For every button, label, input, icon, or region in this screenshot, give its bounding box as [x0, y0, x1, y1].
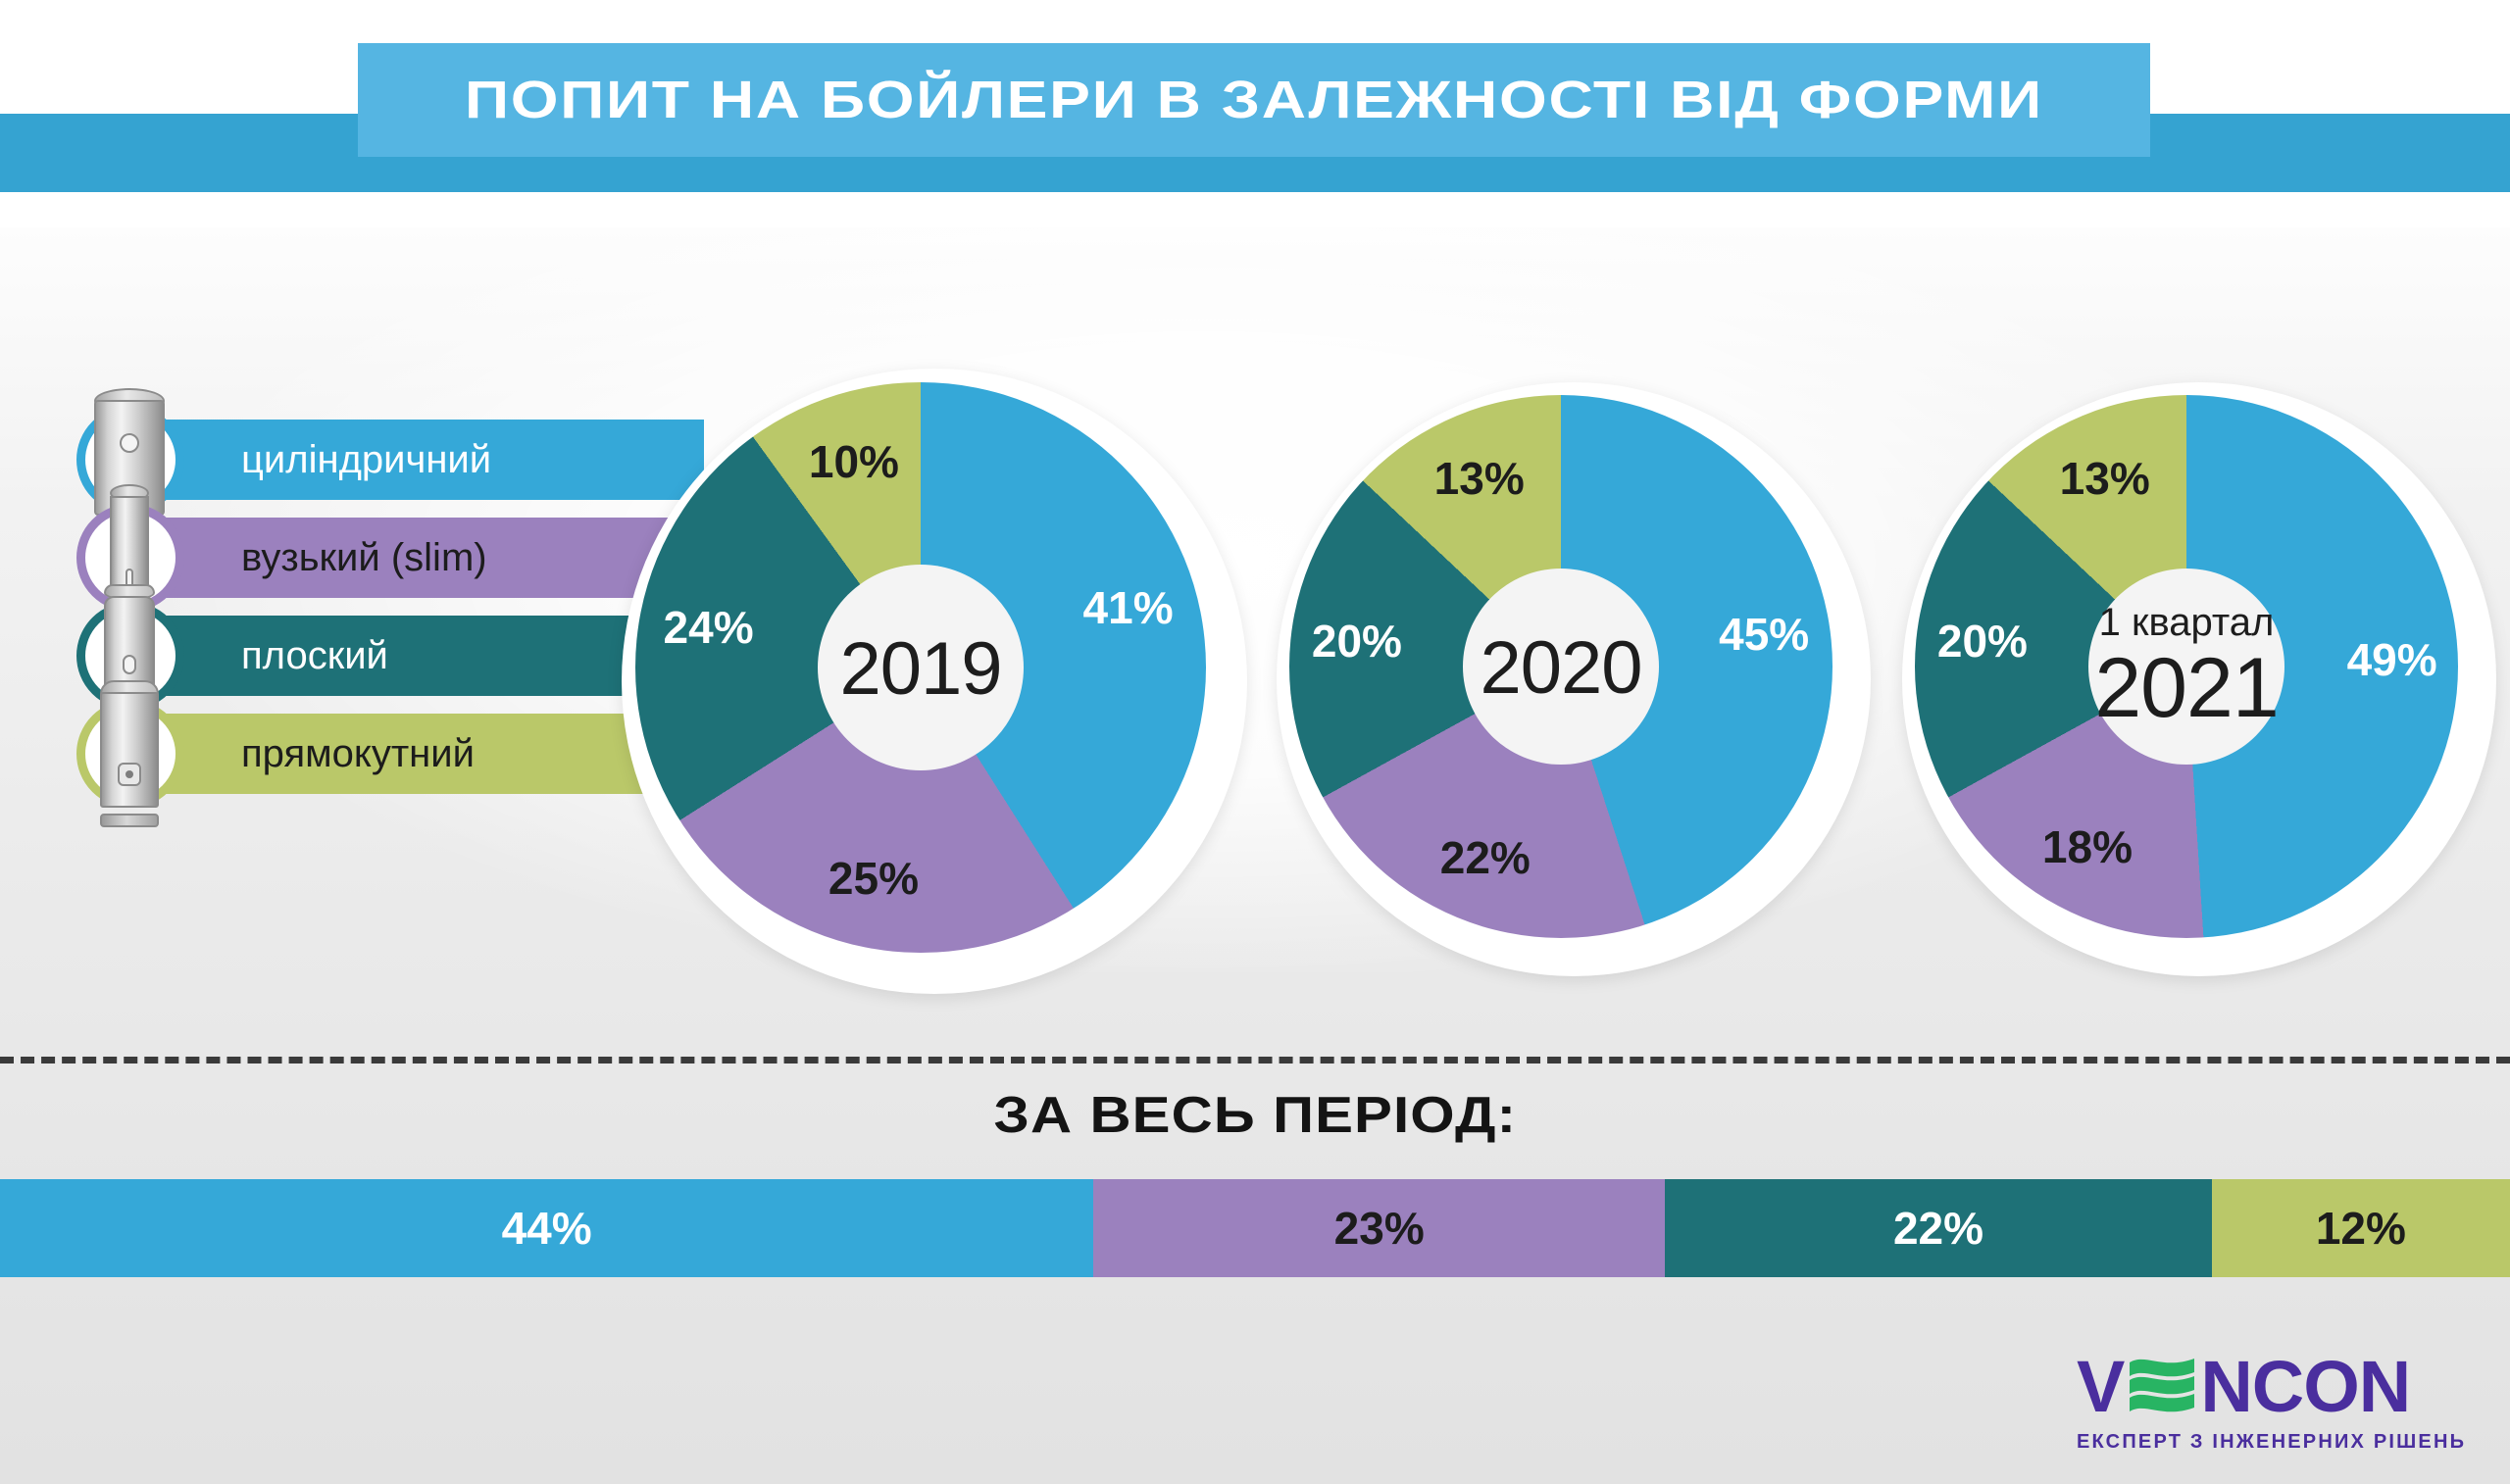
- total-bar-segment-label: 12%: [2316, 1202, 2406, 1255]
- total-period-bar: 44%23%22%12%: [0, 1179, 2510, 1277]
- rectangular-boiler-icon: [100, 680, 159, 827]
- header-title-box: ПОПИТ НА БОЙЛЕРИ В ЗАЛЕЖНОСТІ ВІД ФОРМИ: [358, 43, 2150, 157]
- donut-center: 1 квартал 2021: [2088, 569, 2284, 765]
- donut-chart-2020: 2020 45%22%20%13%: [1277, 382, 1871, 976]
- pie-slice-label: 25%: [828, 852, 919, 905]
- donut-center-label: 2020: [1480, 631, 1641, 706]
- pie-slice-label: 22%: [1440, 831, 1531, 884]
- pie-slice-label: 24%: [664, 601, 754, 654]
- logo-wordmark: V NCON: [2077, 1351, 2488, 1423]
- logo-tagline: ЕКСПЕРТ З ІНЖЕНЕРНИХ РІШЕНЬ: [2077, 1431, 2488, 1454]
- wave-e-icon: [2126, 1353, 2198, 1421]
- pie-slice-label: 45%: [1719, 608, 1809, 661]
- legend-label: прямокутний: [241, 732, 475, 776]
- donut-center-label: 2019: [839, 632, 1001, 707]
- dashed-divider: [0, 1057, 2510, 1064]
- legend-label: плоский: [241, 634, 388, 678]
- donut-center-label: 2021: [2094, 646, 2278, 730]
- donut-chart-2019: 2019 41%25%24%10%: [622, 369, 1247, 994]
- donut-center: 2020: [1463, 569, 1659, 765]
- pie-slice-label: 20%: [1312, 615, 1402, 668]
- donut-chart-2021: 1 квартал 2021 49%18%20%13%: [1902, 382, 2496, 976]
- legend-label: вузький (slim): [241, 536, 487, 580]
- donut-center-sublabel: 1 квартал: [2099, 603, 2275, 642]
- infographic-canvas: ПОПИТ НА БОЙЛЕРИ В ЗАЛЕЖНОСТІ ВІД ФОРМИ …: [0, 0, 2510, 1484]
- donut-center: 2019: [818, 565, 1024, 770]
- section-subtitle-text: ЗА ВЕСЬ ПЕРІОД:: [993, 1086, 1517, 1145]
- pie-slice-label: 13%: [2060, 452, 2150, 505]
- page-title: ПОПИТ НА БОЙЛЕРИ В ЗАЛЕЖНОСТІ ВІД ФОРМИ: [465, 70, 2043, 130]
- total-bar-segment-label: 22%: [1893, 1202, 1983, 1255]
- pie-slice-label: 10%: [809, 435, 899, 488]
- total-bar-segment: 22%: [1665, 1179, 2212, 1277]
- logo-part-2: NCON: [2200, 1351, 2410, 1423]
- legend-bar: вузький (slim): [135, 518, 714, 598]
- pie-slice-label: 49%: [2347, 633, 2437, 686]
- logo-part-1: V: [2077, 1351, 2124, 1423]
- legend-bar: циліндричний: [135, 420, 704, 500]
- total-bar-segment-label: 23%: [1334, 1202, 1425, 1255]
- total-bar-segment-label: 44%: [502, 1202, 592, 1255]
- total-bar-segment: 44%: [0, 1179, 1093, 1277]
- pie-slice-label: 13%: [1434, 452, 1525, 505]
- legend-item-cylindrical[interactable]: циліндричний: [76, 420, 763, 500]
- pie-slice-label: 41%: [1083, 581, 1174, 634]
- vencon-logo: V NCON ЕКСПЕРТ З ІНЖЕНЕРНИХ РІШЕНЬ: [2077, 1351, 2488, 1454]
- pie-slice-label: 20%: [1937, 615, 2028, 668]
- section-subtitle: ЗА ВЕСЬ ПЕРІОД:: [0, 1086, 2510, 1145]
- total-bar-segment: 12%: [2212, 1179, 2510, 1277]
- legend-label: циліндричний: [241, 438, 491, 482]
- total-bar-segment: 23%: [1093, 1179, 1665, 1277]
- pie-slice-label: 18%: [2042, 820, 2133, 873]
